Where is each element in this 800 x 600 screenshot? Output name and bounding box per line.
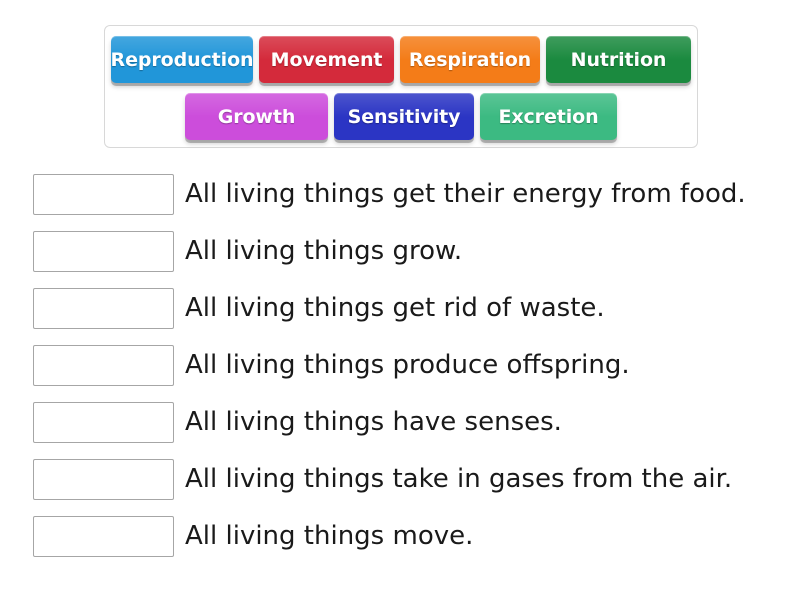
activity-canvas: ReproductionMovementRespirationNutrition… xyxy=(0,0,800,600)
answer-row: All living things have senses. xyxy=(33,402,778,443)
answer-row: All living things produce offspring. xyxy=(33,345,778,386)
answer-statement: All living things take in gases from the… xyxy=(185,465,732,494)
answer-statement: All living things move. xyxy=(185,522,473,551)
tile-movement[interactable]: Movement xyxy=(259,36,394,83)
tile-respiration[interactable]: Respiration xyxy=(400,36,540,83)
tile-growth[interactable]: Growth xyxy=(185,93,328,140)
tile-excretion[interactable]: Excretion xyxy=(480,93,617,140)
drop-zone[interactable] xyxy=(33,402,174,443)
answer-row-list: All living things get their energy from … xyxy=(33,174,778,557)
drop-zone[interactable] xyxy=(33,516,174,557)
answer-statement: All living things get rid of waste. xyxy=(185,294,605,323)
tile-row-1: ReproductionMovementRespirationNutrition xyxy=(105,31,697,88)
drop-zone[interactable] xyxy=(33,288,174,329)
drop-zone[interactable] xyxy=(33,231,174,272)
tile-sensitivity[interactable]: Sensitivity xyxy=(334,93,474,140)
answer-statement: All living things get their energy from … xyxy=(185,180,746,209)
answer-row: All living things take in gases from the… xyxy=(33,459,778,500)
drop-zone[interactable] xyxy=(33,345,174,386)
answer-row: All living things get rid of waste. xyxy=(33,288,778,329)
tile-nutrition[interactable]: Nutrition xyxy=(546,36,691,83)
answer-statement: All living things produce offspring. xyxy=(185,351,630,380)
answer-row: All living things get their energy from … xyxy=(33,174,778,215)
tile-reproduction[interactable]: Reproduction xyxy=(111,36,253,83)
answer-row: All living things grow. xyxy=(33,231,778,272)
drop-zone[interactable] xyxy=(33,174,174,215)
answer-row: All living things move. xyxy=(33,516,778,557)
answer-statement: All living things grow. xyxy=(185,237,462,266)
drop-zone[interactable] xyxy=(33,459,174,500)
answer-statement: All living things have senses. xyxy=(185,408,562,437)
draggable-tile-tray: ReproductionMovementRespirationNutrition… xyxy=(104,25,698,148)
tile-row-2: GrowthSensitivityExcretion xyxy=(105,88,697,145)
